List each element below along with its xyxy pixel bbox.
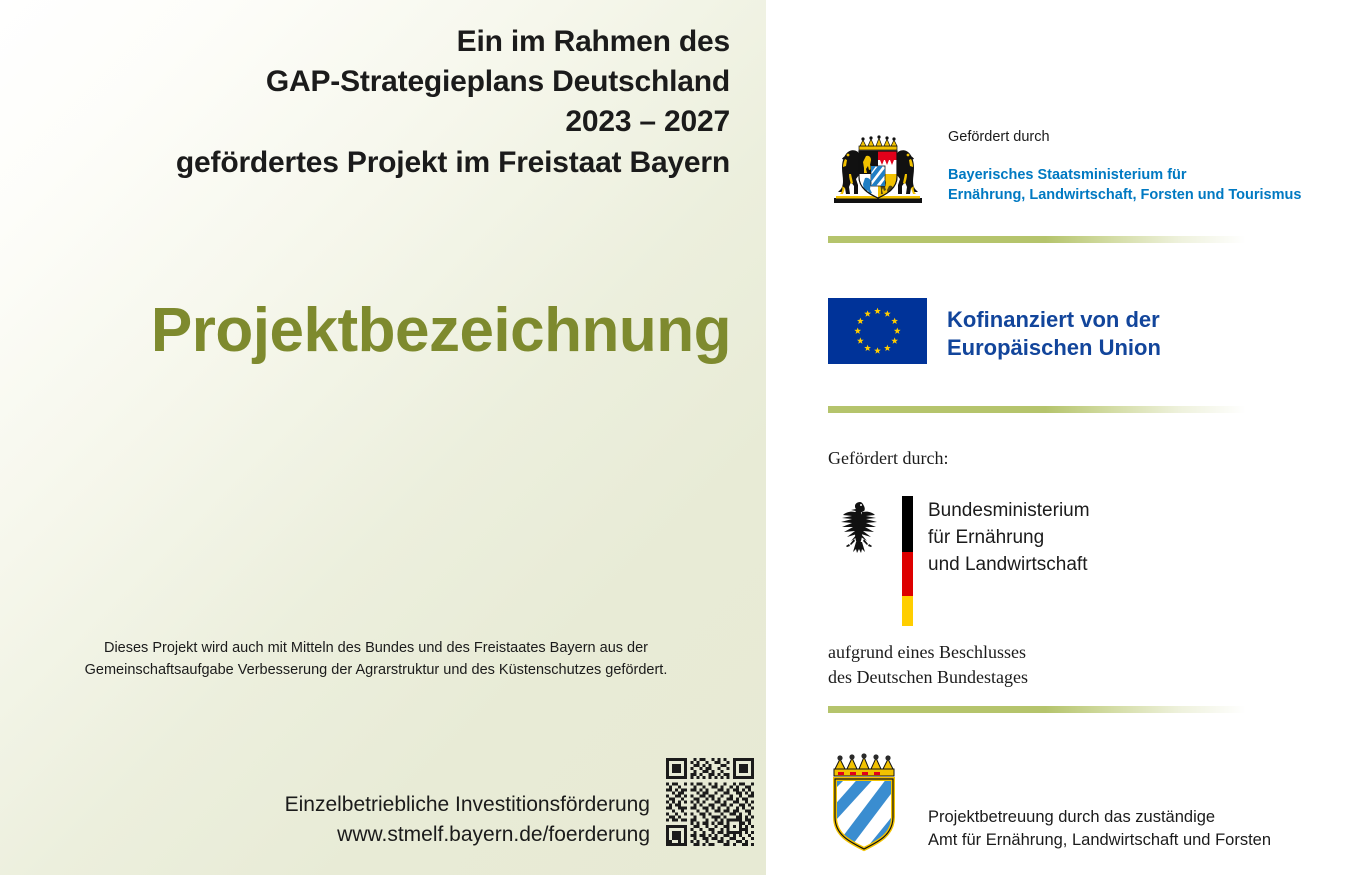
german-flag-bar-icon [902, 496, 913, 626]
federal-eagle-icon [830, 496, 888, 558]
bavarian-shield-icon [828, 752, 900, 852]
qr-code-icon[interactable] [666, 758, 754, 846]
flag-stripe-red [902, 552, 913, 595]
eu-text-line-1: Kofinanziert von der [947, 306, 1161, 334]
programme-name: Einzelbetriebliche Investitionsförderung [285, 790, 650, 820]
programme-url[interactable]: www.stmelf.bayern.de/foerderung [285, 820, 650, 850]
bavarian-ministry-text: Gefördert durch Bayerisches Staatsminist… [948, 128, 1301, 206]
page-title: Projektbezeichnung [0, 300, 731, 362]
european-union-flag-icon [828, 298, 927, 364]
headline-line-1: Ein im Rahmen des [30, 22, 730, 62]
bundestag-note-line-2: des Deutschen Bundestages [828, 665, 1028, 690]
headline: Ein im Rahmen des GAP-Strategieplans Deu… [30, 22, 730, 183]
bundestag-resolution-note: aufgrund eines Beschlusses des Deutschen… [828, 640, 1028, 690]
bmel-funded-by-label: Gefördert durch: [828, 448, 948, 469]
aelf-text-line-1: Projektbetreuung durch das zuständige [928, 806, 1271, 829]
divider-3 [828, 706, 1246, 713]
bavarian-ministry-name-line-2: Ernährung, Landwirtschaft, Forsten und T… [948, 185, 1301, 206]
funded-by-label: Gefördert durch [948, 128, 1301, 147]
bmel-name: Bundesministerium für Ernährung und Land… [928, 498, 1090, 579]
footnote-line-2: Gemeinschaftsaufgabe Verbesserung der Ag… [20, 659, 732, 681]
bmel-name-line-1: Bundesministerium [928, 498, 1090, 525]
eu-text-line-2: Europäischen Union [947, 334, 1161, 362]
bavarian-coat-of-arms-icon [828, 134, 928, 206]
european-union-text: Kofinanziert von der Europäischen Union [947, 306, 1161, 362]
left-panel: Ein im Rahmen des GAP-Strategieplans Deu… [0, 0, 766, 875]
bavarian-ministry-name: Bayerisches Staatsministerium für Ernähr… [948, 165, 1301, 206]
bmel-name-line-2: für Ernährung [928, 525, 1090, 552]
bavarian-ministry-name-line-1: Bayerisches Staatsministerium für [948, 165, 1301, 186]
flag-stripe-gold [902, 596, 913, 626]
programme-reference-text: Einzelbetriebliche Investitionsförderung… [285, 790, 650, 850]
right-panel: Gefördert durch Bayerisches Staatsminist… [766, 0, 1352, 875]
divider-1 [828, 236, 1246, 243]
headline-line-2: GAP-Strategieplans Deutschland [30, 62, 730, 102]
divider-2 [828, 406, 1246, 413]
bmel-name-line-3: und Landwirtschaft [928, 552, 1090, 579]
footnote: Dieses Projekt wird auch mit Mitteln des… [20, 637, 732, 682]
aelf-text: Projektbetreuung durch das zuständige Am… [928, 806, 1271, 853]
footnote-line-1: Dieses Projekt wird auch mit Mitteln des… [20, 637, 732, 659]
bundestag-note-line-1: aufgrund eines Beschlusses [828, 640, 1028, 665]
aelf-text-line-2: Amt für Ernährung, Landwirtschaft und Fo… [928, 829, 1271, 852]
programme-reference-block: Einzelbetriebliche Investitionsförderung… [180, 790, 740, 880]
flag-stripe-black [902, 496, 913, 552]
headline-line-3: 2023 – 2027 [30, 102, 730, 142]
headline-line-4: gefördertes Projekt im Freistaat Bayern [30, 143, 730, 183]
